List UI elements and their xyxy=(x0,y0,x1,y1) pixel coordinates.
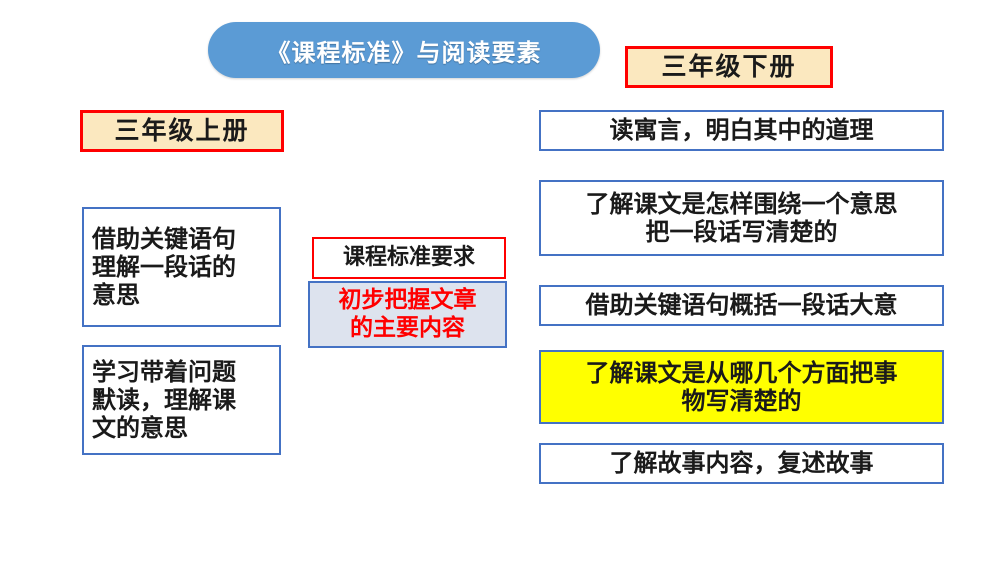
right-column-item-5-text: 了解故事内容，复述故事 xyxy=(541,449,942,477)
grade-banner-upper-volume-label: 三年级上册 xyxy=(83,116,281,146)
standard-requirement-header-text: 课程标准要求 xyxy=(314,245,504,271)
left-column-item-2-text: 学习带着问题 默读，理解课 文的意思 xyxy=(92,358,279,443)
right-column-item-2: 了解课文是怎样围绕一个意思 把一段话写清楚的 xyxy=(539,180,944,256)
right-column-item-1-text: 读寓言，明白其中的道理 xyxy=(541,116,942,144)
slide-title-pill: 《课程标准》与阅读要素 xyxy=(208,22,600,78)
left-column-item-1: 借助关键语句 理解一段话的 意思 xyxy=(82,207,281,327)
standard-requirement-header: 课程标准要求 xyxy=(312,237,506,279)
standard-requirement-body-text: 初步把握文章 的主要内容 xyxy=(310,287,505,341)
left-column-item-1-text: 借助关键语句 理解一段话的 意思 xyxy=(92,225,279,310)
grade-banner-lower-volume-label: 三年级下册 xyxy=(628,52,830,82)
grade-banner-upper-volume: 三年级上册 xyxy=(80,110,284,152)
grade-banner-lower-volume: 三年级下册 xyxy=(625,46,833,88)
right-column-item-1: 读寓言，明白其中的道理 xyxy=(539,110,944,151)
right-column-item-5: 了解故事内容，复述故事 xyxy=(539,443,944,484)
slide-title-text: 《课程标准》与阅读要素 xyxy=(267,33,542,68)
right-column-item-4-highlighted: 了解课文是从哪几个方面把事 物写清楚的 xyxy=(539,350,944,424)
right-column-item-3-text: 借助关键语句概括一段话大意 xyxy=(541,291,942,319)
right-column-item-2-text: 了解课文是怎样围绕一个意思 把一段话写清楚的 xyxy=(541,190,942,247)
left-column-item-2: 学习带着问题 默读，理解课 文的意思 xyxy=(82,345,281,455)
slide-canvas: 《课程标准》与阅读要素 三年级下册 三年级上册 借助关键语句 理解一段话的 意思… xyxy=(0,0,1000,563)
right-column-item-4-text: 了解课文是从哪几个方面把事 物写清楚的 xyxy=(541,359,942,416)
standard-requirement-body: 初步把握文章 的主要内容 xyxy=(308,281,507,348)
right-column-item-3: 借助关键语句概括一段话大意 xyxy=(539,285,944,326)
